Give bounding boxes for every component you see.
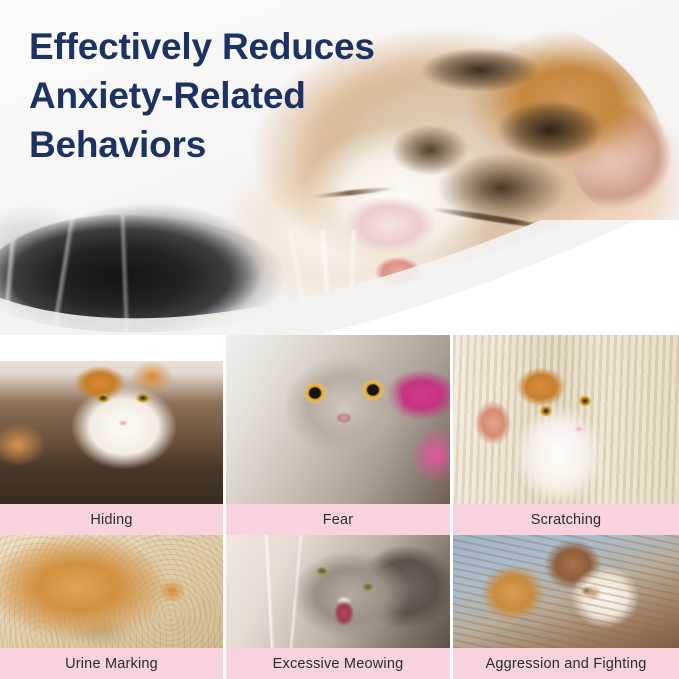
caption-excessive-meowing: Excessive Meowing [226, 648, 450, 679]
behavior-grid: Hiding Fear Scratching Urine Marking Exc… [0, 335, 679, 679]
photo-scratching [453, 335, 679, 504]
grid-cell-hiding[interactable]: Hiding [0, 335, 226, 535]
photo-hiding [0, 335, 223, 504]
grid-cell-fear[interactable]: Fear [226, 335, 453, 535]
grid-cell-excessive-meowing[interactable]: Excessive Meowing [226, 535, 453, 679]
grid-cell-urine-marking[interactable]: Urine Marking [0, 535, 226, 679]
photo-aggression-fighting [453, 535, 679, 648]
photo-urine-marking [0, 535, 223, 648]
grid-cell-aggression-fighting[interactable]: Aggression and Fighting [453, 535, 679, 679]
photo-fear [226, 335, 450, 504]
caption-hiding: Hiding [0, 504, 223, 535]
caption-fear: Fear [226, 504, 450, 535]
page-title: Effectively Reduces Anxiety-Related Beha… [29, 22, 459, 170]
photo-excessive-meowing [226, 535, 450, 648]
caption-scratching: Scratching [453, 504, 679, 535]
grid-cell-scratching[interactable]: Scratching [453, 335, 679, 535]
promo-graphic: Effectively Reduces Anxiety-Related Beha… [0, 0, 679, 679]
caption-aggression-fighting: Aggression and Fighting [453, 648, 679, 679]
caption-urine-marking: Urine Marking [0, 648, 223, 679]
